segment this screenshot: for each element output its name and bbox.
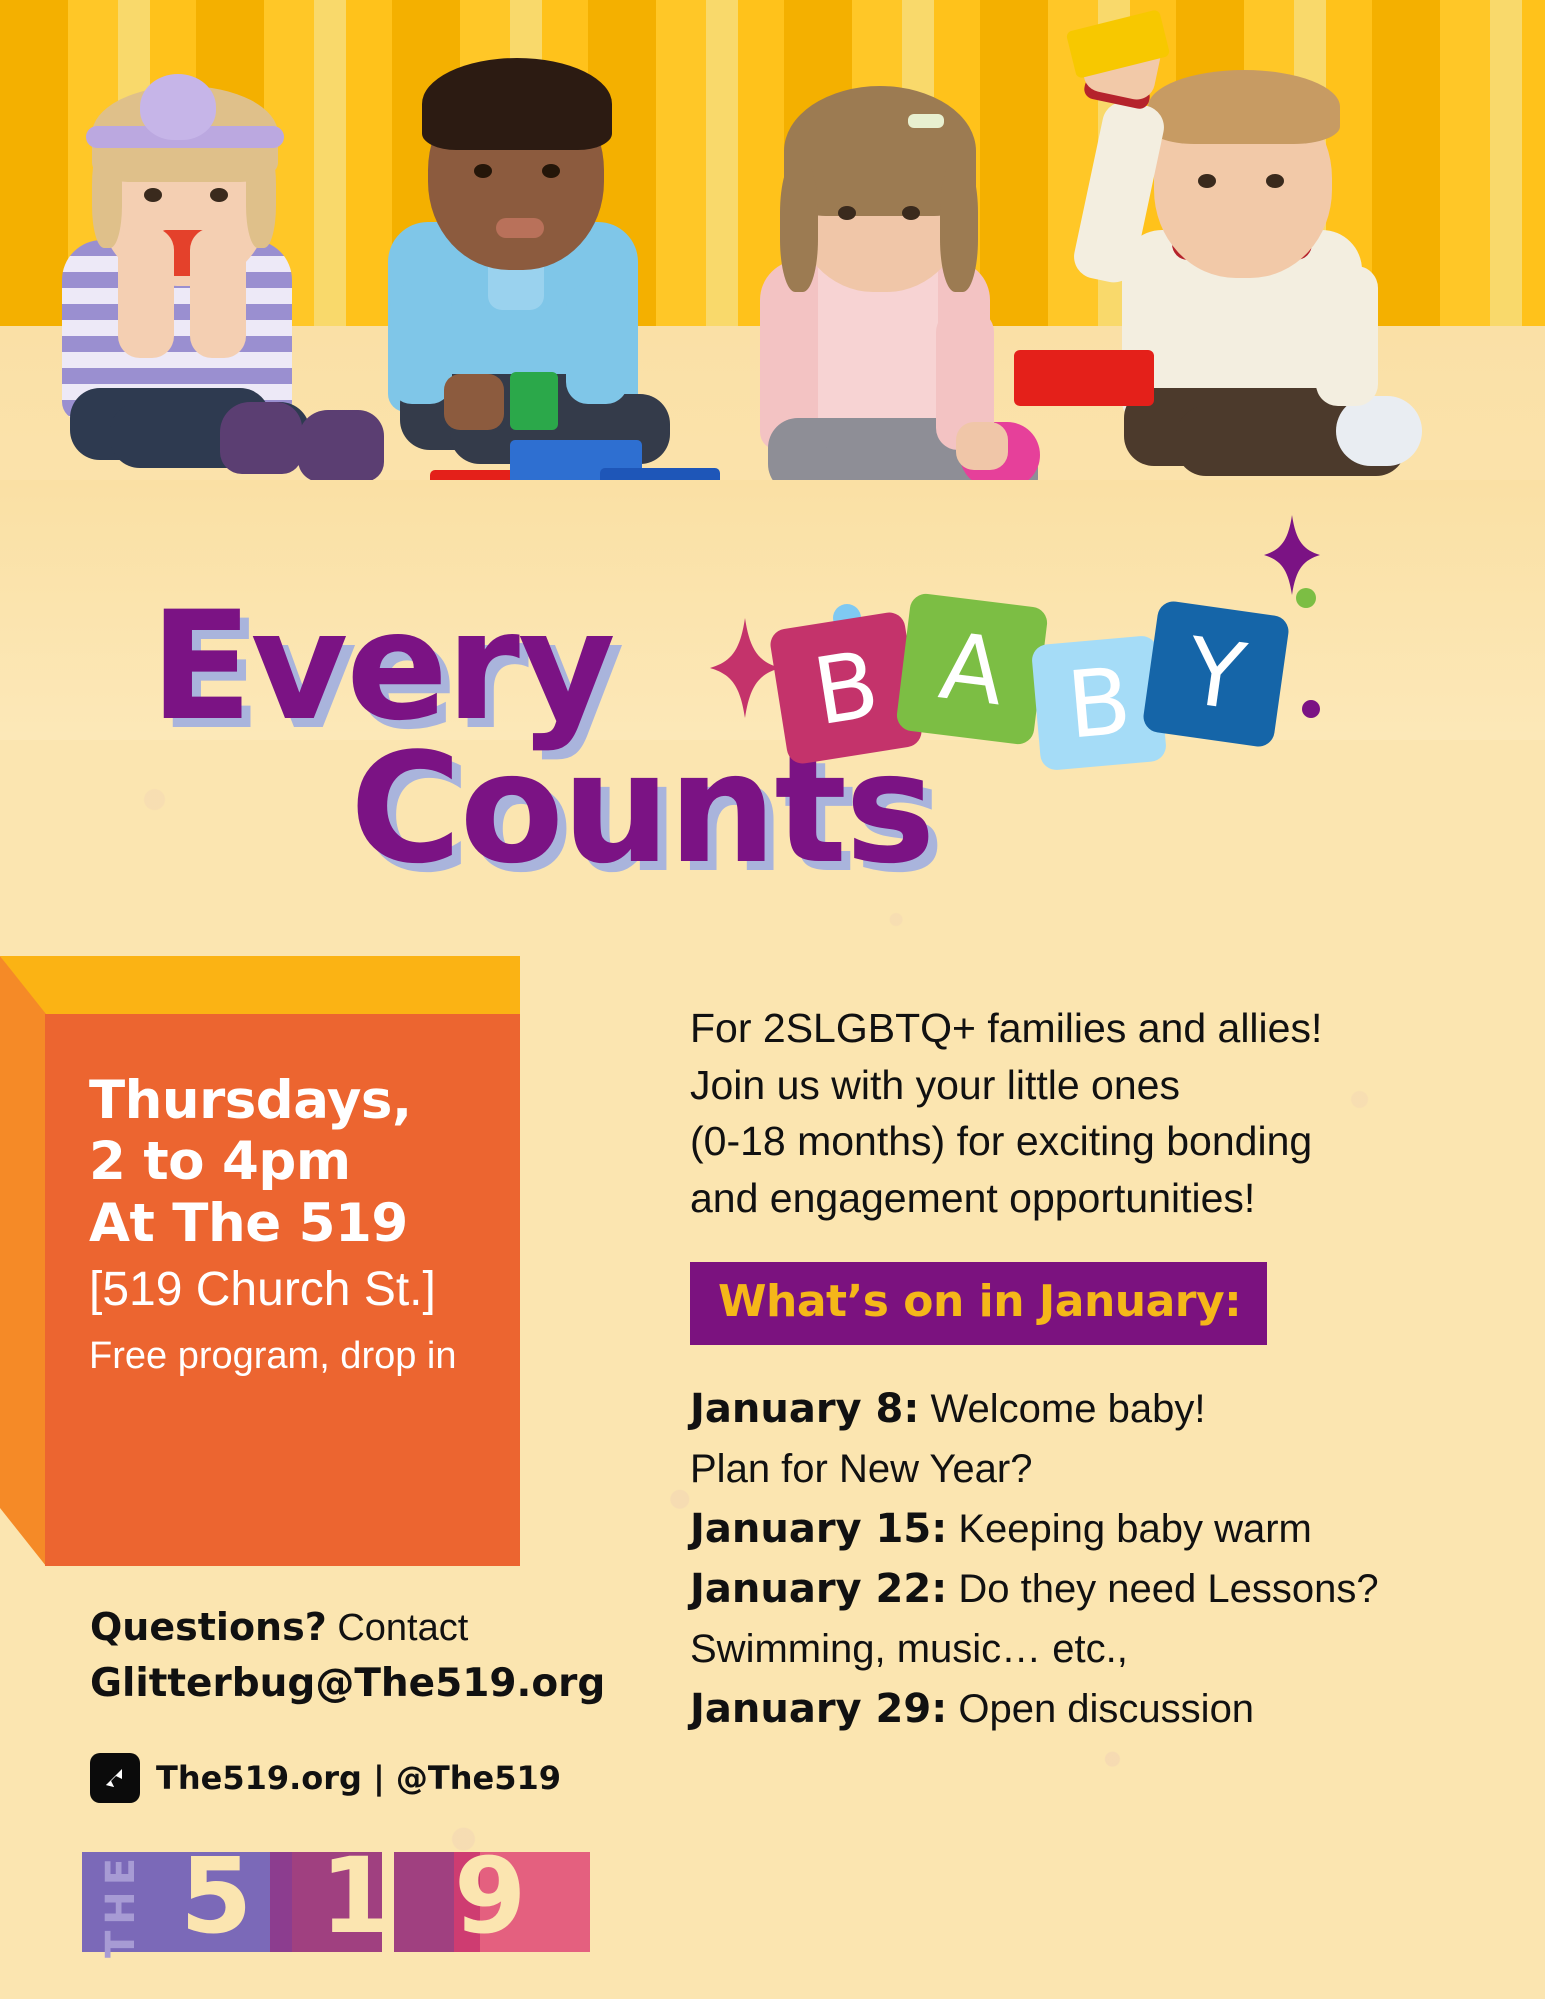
info-line-days: Thursdays, <box>89 1070 520 1131</box>
schedule-row: January 8: Welcome baby! <box>690 1379 1450 1439</box>
schedule-text: Keeping baby warm <box>947 1507 1312 1551</box>
logo-1-block: 1 <box>292 1852 382 1952</box>
logo-9-left-block <box>394 1852 454 1952</box>
intro-line: For 2SLGBTQ+ families and allies! <box>690 1000 1450 1057</box>
contact-email[interactable]: Glitterbug@The519.org <box>90 1656 650 1713</box>
schedule-date: January 15: <box>690 1506 947 1552</box>
poster-title: Every Counts B A B Y <box>0 590 1545 920</box>
social-row: The519.org | @The519 <box>90 1753 650 1803</box>
questions-label: Questions? <box>90 1605 327 1649</box>
schedule-row: Swimming, music… etc., <box>690 1619 1450 1679</box>
schedule-row: Plan for New Year? <box>690 1439 1450 1499</box>
info-line-venue: At The 519 <box>89 1193 520 1254</box>
logo-digit-9: 9 <box>454 1846 526 1946</box>
intro-paragraph: For 2SLGBTQ+ families and allies! Join u… <box>690 1000 1450 1226</box>
sparkle-icon-magenta <box>710 618 780 718</box>
schedule-text: Do they need Lessons? <box>947 1567 1378 1611</box>
schedule-row: January 22: Do they need Lessons? <box>690 1559 1450 1619</box>
intro-line: and engagement opportunities! <box>690 1170 1450 1227</box>
january-schedule: January 8: Welcome baby! Plan for New Ye… <box>690 1379 1450 1739</box>
logo-divider-1 <box>270 1852 292 1952</box>
schedule-text: Swimming, music… etc., <box>690 1627 1128 1671</box>
logo-digit-1: 1 <box>320 1846 392 1946</box>
paper-plane-icon[interactable] <box>90 1753 140 1803</box>
logo-digit-5: 5 <box>180 1846 252 1946</box>
schedule-date: January 22: <box>690 1566 947 1612</box>
schedule-row: January 15: Keeping baby warm <box>690 1499 1450 1559</box>
social-handles[interactable]: The519.org | @The519 <box>156 1759 561 1797</box>
schedule-info-box: Thursdays, 2 to 4pm At The 519 [519 Chur… <box>0 956 600 1566</box>
schedule-date: January 29: <box>690 1686 947 1732</box>
the-519-logo: THE 5 1 9 <box>82 1852 412 1962</box>
january-banner: What’s on in January: <box>690 1262 1267 1345</box>
info-box-bevel-top <box>0 956 520 1016</box>
schedule-text: Plan for New Year? <box>690 1447 1032 1491</box>
right-column: For 2SLGBTQ+ families and allies! Join u… <box>690 1000 1450 1739</box>
hair-clip <box>908 114 944 128</box>
poster-root: Every Counts B A B Y Thursdays, 2 to 4pm… <box>0 0 1545 1999</box>
logo-the-text: THE <box>98 1852 144 1958</box>
intro-line: (0-18 months) for exciting bonding <box>690 1113 1450 1170</box>
logo-9-block: 9 <box>480 1852 590 1952</box>
schedule-text: Open discussion <box>947 1687 1254 1731</box>
contact-block: Questions? Contact Glitterbug@The519.org… <box>90 1600 650 1803</box>
schedule-date: January 8: <box>690 1386 919 1432</box>
hair-flower <box>140 74 216 140</box>
letter-block-y: Y <box>1141 599 1290 748</box>
baby-1 <box>40 30 340 550</box>
info-line-address: [519 Church St.] <box>89 1254 520 1326</box>
logo-5-block: 5 <box>170 1852 270 1952</box>
info-line-note: Free program, drop in <box>89 1326 520 1387</box>
schedule-text: Welcome baby! <box>919 1387 1205 1431</box>
contact-word: Contact <box>327 1607 469 1649</box>
info-box-bevel-left <box>0 956 46 1566</box>
schedule-row: January 29: Open discussion <box>690 1679 1450 1739</box>
sparkle-icon-purple <box>1264 515 1320 595</box>
intro-line: Join us with your little ones <box>690 1057 1450 1114</box>
info-line-time: 2 to 4pm <box>89 1131 520 1192</box>
letter-block-a: A <box>895 592 1049 746</box>
logo-the-block: THE <box>82 1852 170 1952</box>
questions-line: Questions? Contact <box>90 1600 650 1656</box>
